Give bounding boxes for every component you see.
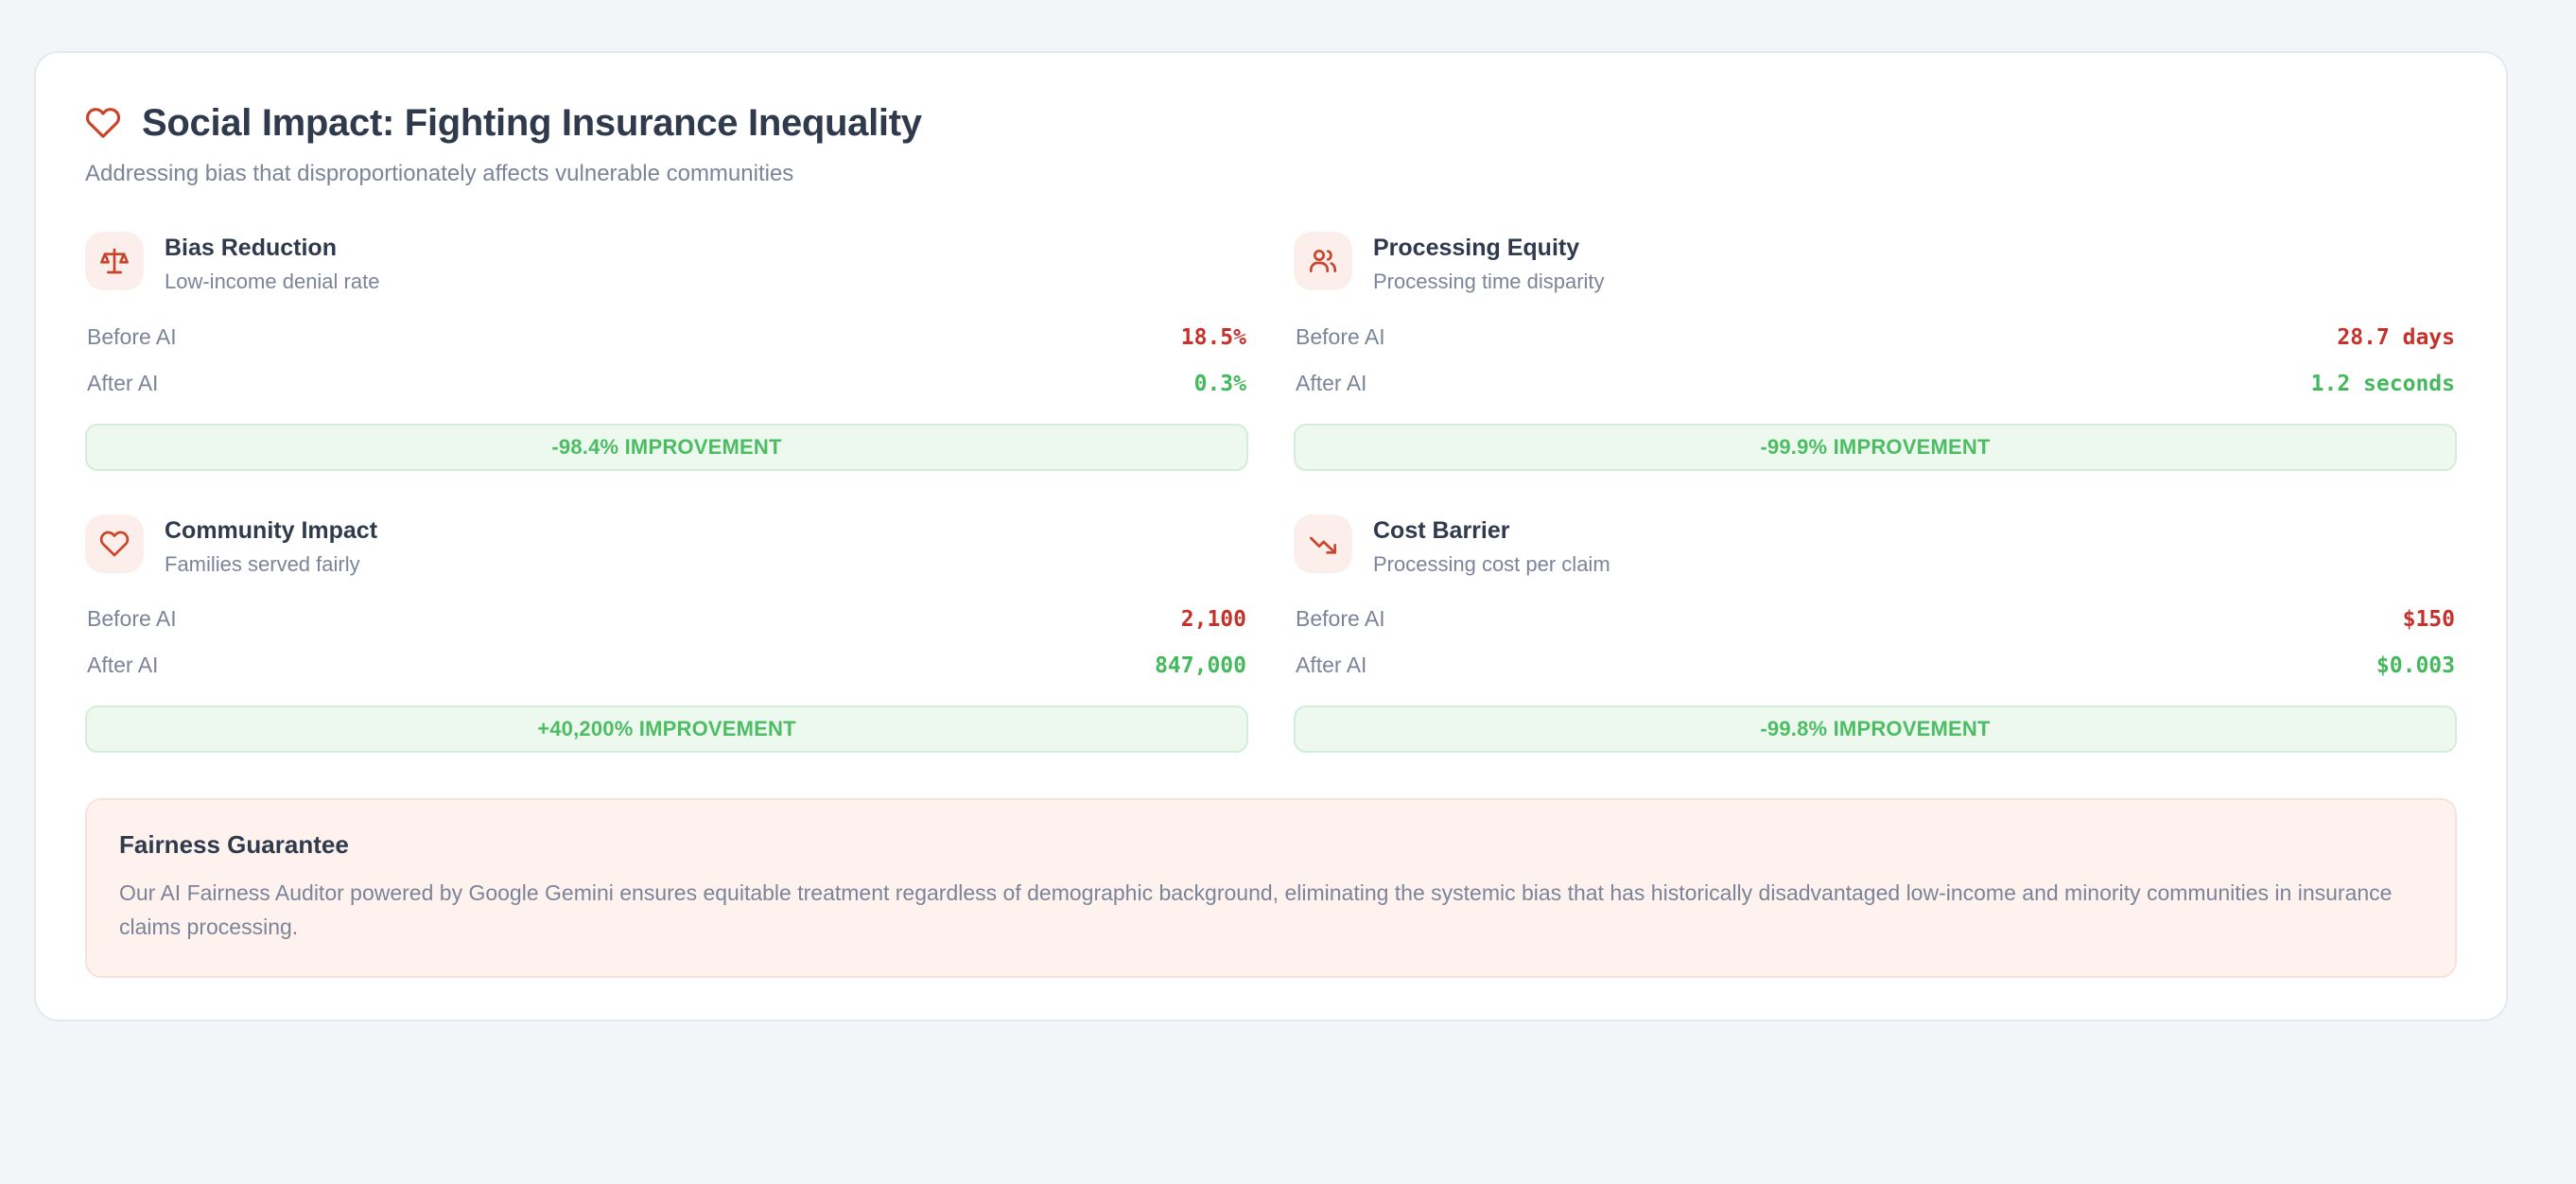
after-label: After AI <box>1296 371 1366 396</box>
before-label: Before AI <box>87 324 177 350</box>
metric-header: Community Impact Families served fairly <box>85 514 1248 577</box>
heart-icon <box>85 514 144 573</box>
metric-row-before: Before AI 28.7 days <box>1294 320 2457 355</box>
before-value: 18.5% <box>1181 325 1246 350</box>
before-label: Before AI <box>1296 324 1385 350</box>
metric-row-before: Before AI 2,100 <box>85 601 1248 636</box>
page-root: Social Impact: Fighting Insurance Inequa… <box>0 0 2576 1184</box>
fairness-title: Fairness Guarantee <box>119 830 2423 860</box>
before-label: Before AI <box>1296 606 1385 632</box>
improvement-badge: +40,200% IMPROVEMENT <box>85 705 1248 753</box>
metric-card-community-impact: Community Impact Families served fairly … <box>85 514 1248 753</box>
improvement-badge: -99.9% IMPROVEMENT <box>1294 424 2457 471</box>
after-label: After AI <box>1296 653 1366 678</box>
after-value: $0.003 <box>2376 653 2455 678</box>
metric-row-after: After AI 847,000 <box>85 648 1248 683</box>
improvement-badge: -98.4% IMPROVEMENT <box>85 424 1248 471</box>
improvement-badge: -99.8% IMPROVEMENT <box>1294 705 2457 753</box>
page-subtitle: Addressing bias that disproportionately … <box>85 159 2457 188</box>
metric-card-cost-barrier: Cost Barrier Processing cost per claim B… <box>1294 514 2457 753</box>
before-value: 2,100 <box>1181 607 1246 632</box>
before-value: $150 <box>2403 607 2455 632</box>
page-title: Social Impact: Fighting Insurance Inequa… <box>142 102 922 144</box>
after-value: 847,000 <box>1155 653 1246 678</box>
metric-sublabel: Processing time disparity <box>1373 270 1605 294</box>
metric-header: Processing Equity Processing time dispar… <box>1294 232 2457 294</box>
metric-card-bias-reduction: Bias Reduction Low-income denial rate Be… <box>85 232 1248 470</box>
after-label: After AI <box>87 371 158 396</box>
metric-label: Bias Reduction <box>165 234 379 262</box>
scales-icon <box>85 232 144 290</box>
trending-down-icon <box>1294 514 1352 573</box>
metric-header: Cost Barrier Processing cost per claim <box>1294 514 2457 577</box>
metric-label: Community Impact <box>165 516 377 545</box>
metric-header: Bias Reduction Low-income denial rate <box>85 232 1248 294</box>
metric-label: Processing Equity <box>1373 234 1605 262</box>
social-impact-panel: Social Impact: Fighting Insurance Inequa… <box>34 51 2508 1021</box>
metric-headings: Bias Reduction Low-income denial rate <box>165 232 379 294</box>
before-value: 28.7 days <box>2337 325 2455 350</box>
metric-headings: Community Impact Families served fairly <box>165 514 377 577</box>
metric-row-before: Before AI 18.5% <box>85 320 1248 355</box>
metric-headings: Cost Barrier Processing cost per claim <box>1373 514 1610 577</box>
after-value: 0.3% <box>1194 372 1246 396</box>
panel-header: Social Impact: Fighting Insurance Inequa… <box>85 102 2457 188</box>
metric-sublabel: Processing cost per claim <box>1373 552 1610 577</box>
metric-sublabel: Low-income denial rate <box>165 270 379 294</box>
after-value: 1.2 seconds <box>2311 372 2455 396</box>
before-label: Before AI <box>87 606 177 632</box>
heart-icon <box>85 105 121 141</box>
fairness-body: Our AI Fairness Auditor powered by Googl… <box>119 877 2417 944</box>
title-row: Social Impact: Fighting Insurance Inequa… <box>85 102 2457 144</box>
after-label: After AI <box>87 653 158 678</box>
metric-row-after: After AI 0.3% <box>85 366 1248 401</box>
users-icon <box>1294 232 1352 290</box>
metric-card-processing-equity: Processing Equity Processing time dispar… <box>1294 232 2457 470</box>
metric-grid: Bias Reduction Low-income denial rate Be… <box>85 232 2457 753</box>
metric-row-before: Before AI $150 <box>1294 601 2457 636</box>
metric-label: Cost Barrier <box>1373 516 1610 545</box>
metric-sublabel: Families served fairly <box>165 552 377 577</box>
fairness-guarantee-note: Fairness Guarantee Our AI Fairness Audit… <box>85 798 2457 978</box>
metric-row-after: After AI $0.003 <box>1294 648 2457 683</box>
metric-row-after: After AI 1.2 seconds <box>1294 366 2457 401</box>
metric-headings: Processing Equity Processing time dispar… <box>1373 232 1605 294</box>
